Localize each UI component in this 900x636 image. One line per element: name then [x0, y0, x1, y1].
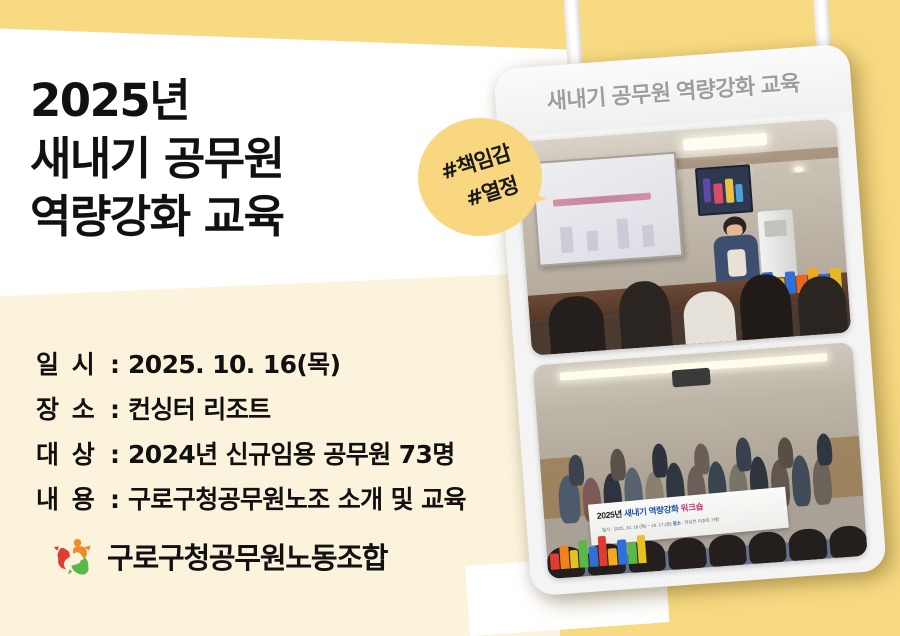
detail-value-place: 컨싱터 리조트 [128, 390, 271, 426]
detail-row-place: 장 소 : 컨싱터 리조트 [36, 390, 466, 426]
detail-value-content: 구로구청공무원노조 소개 및 교육 [128, 480, 466, 516]
detail-row-date: 일 시 : 2025. 10. 16(목) [36, 345, 466, 381]
photo-card-header-text: 새내기 공무원 역량강화 교육 [545, 65, 800, 115]
photo-lecture [517, 119, 852, 356]
detail-colon-place: : [110, 395, 120, 424]
three-people-circle-logo-icon [52, 534, 96, 578]
detail-label-place: 장 소 [36, 390, 110, 426]
title-line-3: 역량강화 교육 [30, 188, 284, 246]
page-title: 2025년 새내기 공무원 역량강화 교육 [30, 72, 284, 246]
detail-value-audience: 2024년 신규임용 공무원 73명 [128, 435, 455, 471]
poster-root: 새내기 공무원 역량강화 교육 [0, 0, 900, 636]
title-line-2: 새내기 공무원 [30, 130, 284, 188]
banner-text-workshop: 워크숍 [680, 501, 703, 513]
banner-text-year: 2025년 [596, 508, 624, 520]
detail-row-audience: 대 상 : 2024년 신규임용 공무원 73명 [36, 435, 466, 471]
banner-sub-place: : 컨싱턴 리조트 가평 [680, 517, 719, 525]
detail-label-audience: 대 상 [36, 435, 110, 471]
detail-colon-content: : [110, 485, 120, 514]
detail-colon-date: : [110, 350, 120, 379]
title-line-1: 2025년 [30, 72, 284, 130]
banner-text-main: 새내기 역량강화 [623, 503, 680, 518]
photo-group: 2025년 새내기 역량강화 워크숍 일시 : 2025. 10. 16.(목)… [533, 342, 868, 579]
organization: 구로구청공무원노동조합 [52, 534, 387, 578]
detail-value-date: 2025. 10. 16(목) [128, 345, 340, 381]
speech-bubble: #책임감 #열정 [418, 118, 542, 236]
detail-label-content: 내 용 [36, 480, 110, 516]
event-details: 일 시 : 2025. 10. 16(목) 장 소 : 컨싱터 리조트 대 상 … [36, 345, 466, 525]
detail-label-date: 일 시 [36, 345, 110, 381]
photo-card: 새내기 공무원 역량강화 교육 [493, 44, 887, 597]
detail-row-content: 내 용 : 구로구청공무원노조 소개 및 교육 [36, 480, 466, 516]
detail-colon-audience: : [110, 440, 120, 469]
organization-name: 구로구청공무원노동조합 [107, 535, 387, 577]
banner-sub-place-label: 장소 [672, 520, 681, 526]
